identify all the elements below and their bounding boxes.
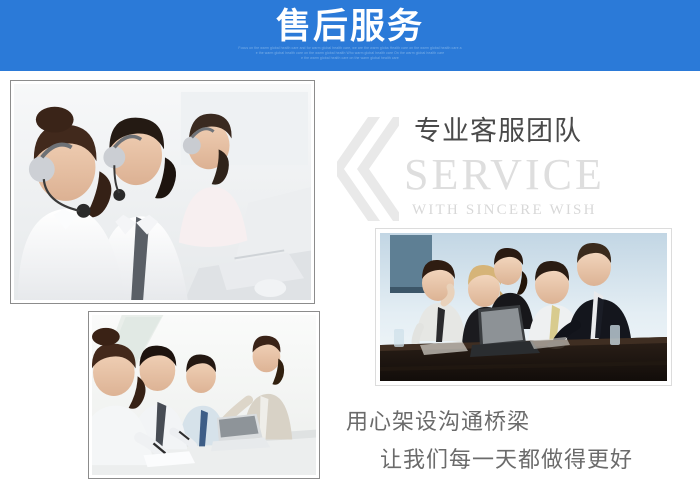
slogan-line-1: 用心架设沟通桥梁 — [346, 410, 530, 435]
header-subtitle-line-3: e the warm global health care on the war… — [0, 56, 700, 61]
double-chevron-left-shape — [337, 117, 399, 221]
call-center-team-photo — [10, 80, 315, 304]
double-chevron-left-icon — [337, 117, 399, 221]
training-meeting-photo — [88, 311, 320, 479]
headline-chinese: 专业客服团队 — [414, 116, 582, 148]
call-center-team-photo-image — [14, 84, 311, 300]
training-meeting-photo-image — [92, 315, 316, 475]
training-meeting-scene-illustration — [92, 315, 316, 475]
business-discussion-scene-illustration — [380, 233, 667, 381]
after-sales-service-page: 售后服务 Focus on the warm global health car… — [0, 0, 700, 494]
headline-english-subtitle: WITH SINCERE WISH — [412, 201, 597, 219]
business-discussion-photo — [375, 228, 672, 386]
headline-english: SERVICE — [404, 152, 605, 198]
slogan-block: 用心架设沟通桥梁 让我们每一天都做得更好 — [346, 404, 633, 480]
call-center-scene-illustration — [14, 84, 311, 300]
page-title: 售后服务 — [0, 6, 700, 48]
business-discussion-photo-image — [380, 233, 667, 381]
slogan-line-2: 让我们每一天都做得更好 — [346, 442, 633, 480]
page-header-banner: 售后服务 Focus on the warm global health car… — [0, 0, 700, 71]
header-subtitle-text: Focus on the warm global health care and… — [0, 46, 700, 62]
